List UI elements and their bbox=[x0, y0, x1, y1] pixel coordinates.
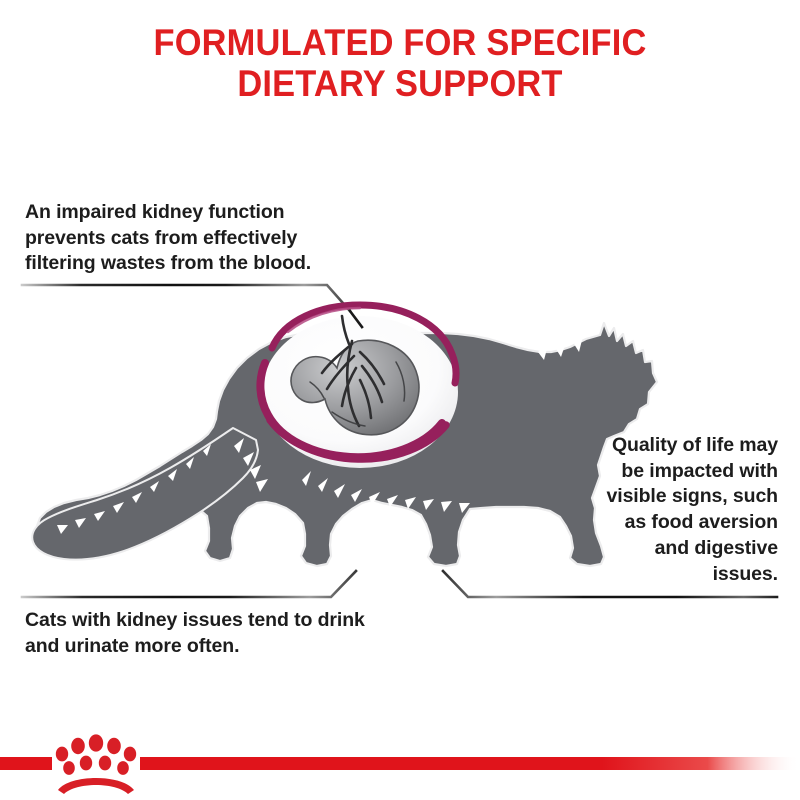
leader-line-bottom-left bbox=[22, 571, 356, 597]
brand-bar-right-segment bbox=[140, 757, 800, 770]
infographic-canvas: FORMULATED FOR SPECIFIC DIETARY SUPPORT bbox=[0, 0, 800, 800]
illustration-layer bbox=[0, 0, 800, 800]
brand-bar bbox=[0, 710, 800, 800]
callout-right-line-5: and digestive bbox=[607, 536, 779, 562]
callout-top-left-line-1: An impaired kidney function bbox=[25, 200, 311, 226]
callout-right: Quality of life may be impacted with vis… bbox=[607, 433, 779, 587]
callout-bottom-left-line-1: Cats with kidney issues tend to drink bbox=[25, 608, 365, 634]
callout-top-left-line-2: prevents cats from effectively bbox=[25, 226, 311, 252]
callout-right-line-2: be impacted with bbox=[607, 459, 779, 485]
callout-right-line-6: issues. bbox=[607, 562, 779, 588]
callout-right-line-1: Quality of life may bbox=[607, 433, 779, 459]
callout-bottom-left: Cats with kidney issues tend to drink an… bbox=[25, 608, 365, 659]
callout-top-left: An impaired kidney function prevents cat… bbox=[25, 200, 311, 277]
kidney-highlight bbox=[260, 305, 458, 468]
callout-bottom-left-line-2: and urinate more often. bbox=[25, 634, 365, 660]
leader-line-top-left bbox=[22, 285, 350, 311]
callout-right-line-4: as food aversion bbox=[607, 510, 779, 536]
callout-top-left-line-3: filtering wastes from the blood. bbox=[25, 251, 311, 277]
callout-right-line-3: visible signs, such bbox=[607, 484, 779, 510]
brand-bar-left-segment bbox=[0, 757, 52, 770]
royal-canin-crown-logo bbox=[56, 734, 136, 794]
